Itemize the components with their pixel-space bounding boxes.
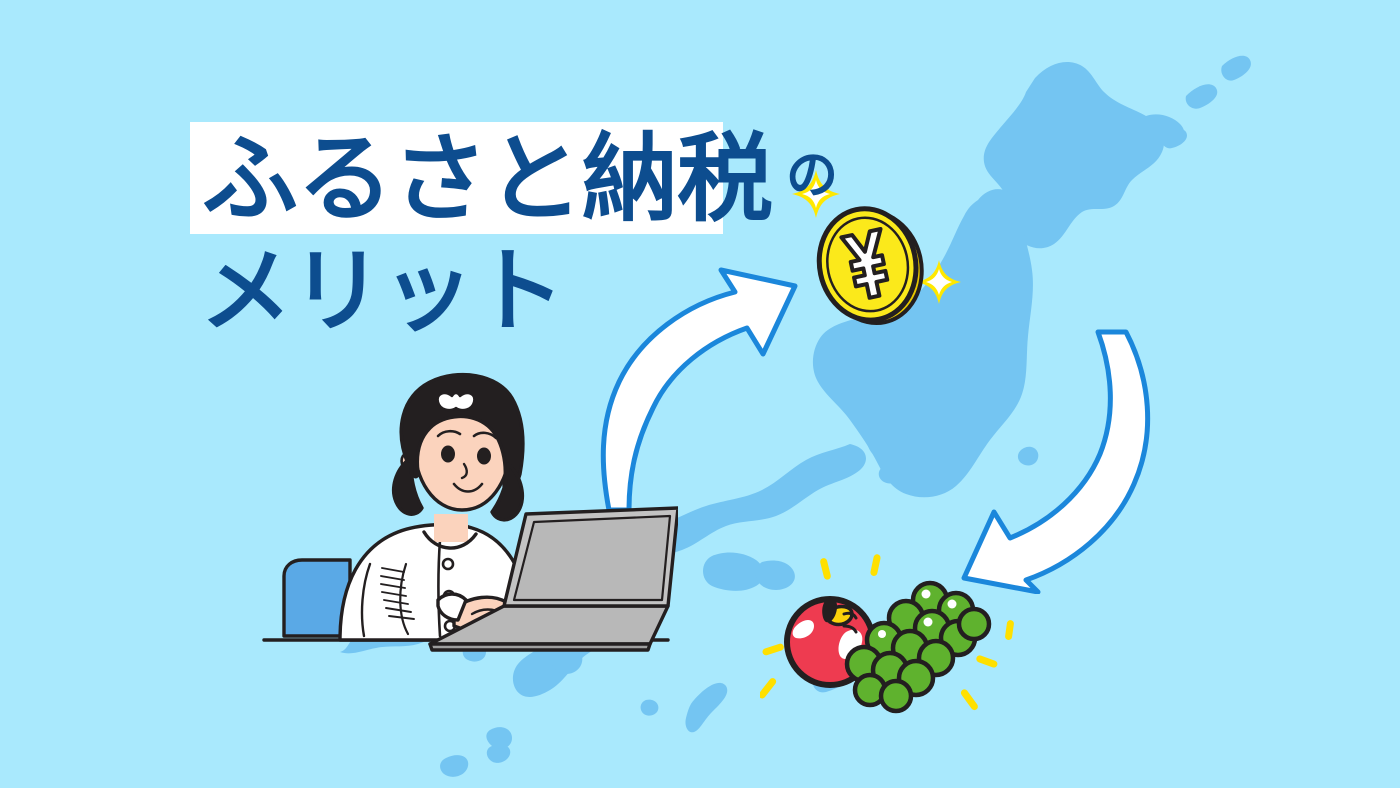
title-particle: の bbox=[786, 120, 838, 232]
title-line-primary: ふるさと納税 の bbox=[186, 114, 826, 236]
return-gifts-illustration bbox=[760, 548, 1020, 728]
banner-canvas: ふるさと納税 の メリット bbox=[0, 0, 1400, 788]
woman-at-laptop-illustration bbox=[258, 368, 678, 668]
title-highlighted-text: ふるさと納税 bbox=[186, 124, 772, 236]
